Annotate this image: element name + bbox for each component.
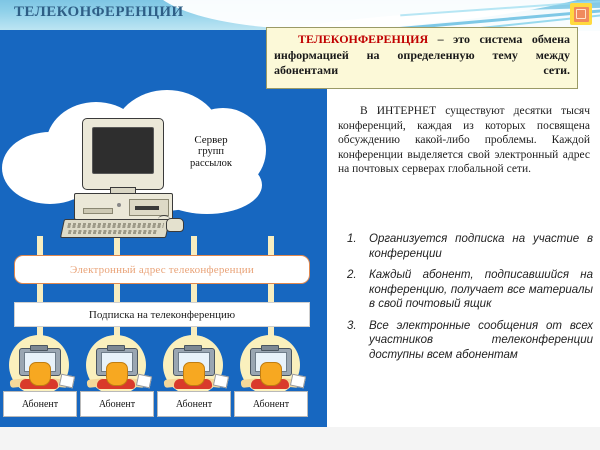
subscriber-label: Абонент [99,399,135,410]
person-head [183,362,205,386]
subscriber-node[interactable]: Абонент [231,335,309,417]
keyboard-icon [60,219,170,238]
list-item-text: Организуется подписка на участие в конфе… [369,232,593,261]
list-item: 2. Каждый абонент, подписавшийся на конф… [347,268,593,312]
mouse-icon [166,218,184,232]
list-item-text: Каждый абонент, подписавшийся на конфере… [369,268,593,312]
subscriber-label-box: Абонент [157,391,231,417]
subscriber-label: Абонент [22,399,58,410]
list-item-text: Все электронные сообщения от всех участн… [369,319,593,363]
monitor-screen [92,127,154,174]
orange-square-icon[interactable] [570,3,592,25]
definition-term: ТЕЛЕКОНФЕРЕНЦИЯ [298,32,428,46]
subscriber-label-box: Абонент [80,391,154,417]
floppy-slot [83,208,113,214]
person-head [29,362,51,386]
subscriber-row: Абонент Абонент [0,335,327,420]
list-item-number: 2. [347,268,369,312]
subscriber-node[interactable]: Абонент [77,335,155,417]
diagram-panel: Сервер групп рассылок Элек [0,30,327,427]
definition-text: ТЕЛЕКОНФЕРЕНЦИЯ – это система обмена инф… [274,32,570,79]
cloud-label: Сервер групп рассылок [170,134,252,170]
disk-drive [129,199,169,216]
numbered-list: 1. Организуется подписка на участие в ко… [347,232,593,369]
subscriber-label-box: Абонент [3,391,77,417]
list-item-number: 1. [347,232,369,261]
cloud-label-line-1: Сервер [170,134,252,146]
definition-box: ТЕЛЕКОНФЕРЕНЦИЯ – это система обмена инф… [266,27,578,89]
list-item: 1. Организуется подписка на участие в ко… [347,232,593,261]
person-head [260,362,282,386]
cloud-label-line-2: групп [170,146,252,158]
keyboard-row-2 [68,230,157,234]
server-computer-icon [62,118,174,236]
subscriber-label: Абонент [253,399,289,410]
list-item: 3. Все электронные сообщения от всех уча… [347,319,593,363]
intro-paragraph: В ИНТЕРНЕТ существуют десятки тысяч конф… [338,104,590,177]
power-led [117,203,121,207]
address-box[interactable]: Электронный адрес телеконференции [14,255,310,284]
bottom-strip [0,427,600,450]
address-box-label: Электронный адрес телеконференции [70,264,254,276]
slide-canvas: ТЕЛЕКОНФЕРЕНЦИИ Сервер групп рассылок [0,0,600,450]
subscription-box-label: Подписка на телеконференцию [89,309,235,321]
cloud-label-line-3: рассылок [170,158,252,170]
person-head [106,362,128,386]
drive-slot [135,206,159,210]
subscriber-monitor-top [184,345,202,351]
subscriber-monitor-top [107,345,125,351]
keyboard-row-1 [67,223,164,228]
subscriber-monitor-top [261,345,279,351]
subscriber-monitor-top [30,345,48,351]
subscriber-node[interactable]: Абонент [154,335,232,417]
orange-square-icon-core [576,9,586,19]
subscriber-label-box: Абонент [234,391,308,417]
paper-icon [213,374,229,389]
subscription-box[interactable]: Подписка на телеконференцию [14,302,310,327]
orange-square-icon-inner [574,7,589,22]
subscriber-node[interactable]: Абонент [0,335,78,417]
page-title: ТЕЛЕКОНФЕРЕНЦИИ [14,4,184,21]
paper-icon [59,374,75,389]
paper-icon [290,374,306,389]
subscriber-label: Абонент [176,399,212,410]
paper-icon [136,374,152,389]
list-item-number: 3. [347,319,369,363]
